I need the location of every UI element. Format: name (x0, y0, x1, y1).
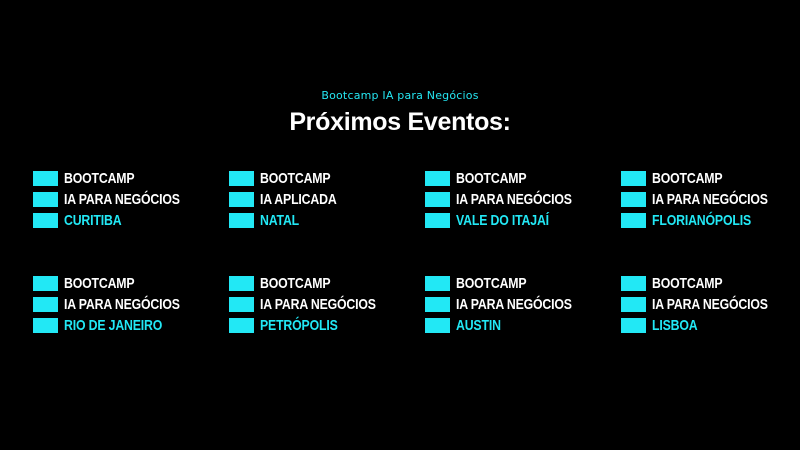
cyan-bar-icon (229, 192, 254, 207)
event-line-1-label: BOOTCAMP (456, 276, 526, 291)
cyan-bar-icon (33, 213, 58, 228)
event-line-2: IA PARA NEGÓCIOS (425, 296, 615, 313)
event-line-1: BOOTCAMP (425, 170, 615, 187)
event-city-label: FLORIANÓPOLIS (652, 213, 751, 228)
cyan-bar-icon (229, 276, 254, 291)
event-line-city: AUSTIN (425, 317, 615, 334)
event-city-label: CURITIBA (64, 213, 121, 228)
cyan-bar-icon (33, 192, 58, 207)
cyan-bar-icon (621, 276, 646, 291)
event-city-label: VALE DO ITAJAÍ (456, 213, 549, 228)
event-line-2-label: IA PARA NEGÓCIOS (260, 297, 376, 312)
cyan-bar-icon (33, 171, 58, 186)
events-grid: BOOTCAMP IA PARA NEGÓCIOS CURITIBA BOOTC… (33, 170, 773, 338)
event-card-austin[interactable]: BOOTCAMP IA PARA NEGÓCIOS AUSTIN (425, 275, 615, 338)
cyan-bar-icon (229, 171, 254, 186)
cyan-bar-icon (229, 213, 254, 228)
event-line-1: BOOTCAMP (425, 275, 615, 292)
cyan-bar-icon (621, 318, 646, 333)
cyan-bar-icon (425, 318, 450, 333)
cyan-bar-icon (425, 171, 450, 186)
cyan-bar-icon (425, 213, 450, 228)
event-city-label: PETRÓPOLIS (260, 318, 338, 333)
event-line-2-label: IA PARA NEGÓCIOS (456, 297, 572, 312)
event-line-city: CURITIBA (33, 212, 223, 229)
event-line-2-label: IA PARA NEGÓCIOS (456, 192, 572, 207)
event-line-1: BOOTCAMP (229, 275, 419, 292)
event-line-2-label: IA PARA NEGÓCIOS (652, 297, 768, 312)
cyan-bar-icon (425, 297, 450, 312)
event-line-2-label: IA PARA NEGÓCIOS (64, 297, 180, 312)
event-line-1: BOOTCAMP (33, 275, 223, 292)
event-city-label: AUSTIN (456, 318, 501, 333)
cyan-bar-icon (425, 192, 450, 207)
event-line-1: BOOTCAMP (33, 170, 223, 187)
page-title: Próximos Eventos: (0, 107, 800, 137)
event-line-city: NATAL (229, 212, 419, 229)
event-line-2: IA PARA NEGÓCIOS (621, 296, 800, 313)
event-line-1-label: BOOTCAMP (260, 276, 330, 291)
event-card-florianopolis[interactable]: BOOTCAMP IA PARA NEGÓCIOS FLORIANÓPOLIS (621, 170, 800, 275)
cyan-bar-icon (621, 213, 646, 228)
event-line-2-label: IA APLICADA (260, 192, 337, 207)
event-card-lisboa[interactable]: BOOTCAMP IA PARA NEGÓCIOS LISBOA (621, 275, 800, 338)
slide-header: Bootcamp IA para Negócios Próximos Event… (0, 88, 800, 137)
event-line-1-label: BOOTCAMP (64, 276, 134, 291)
cyan-bar-icon (33, 297, 58, 312)
event-line-2: IA PARA NEGÓCIOS (33, 296, 223, 313)
event-line-1-label: BOOTCAMP (260, 171, 330, 186)
event-line-2: IA PARA NEGÓCIOS (229, 296, 419, 313)
event-line-city: RIO DE JANEIRO (33, 317, 223, 334)
event-city-label: RIO DE JANEIRO (64, 318, 162, 333)
event-line-1-label: BOOTCAMP (64, 171, 134, 186)
event-line-2: IA PARA NEGÓCIOS (425, 191, 615, 208)
event-line-1-label: BOOTCAMP (652, 276, 722, 291)
event-line-1-label: BOOTCAMP (456, 171, 526, 186)
slide-kicker: Bootcamp IA para Negócios (0, 88, 800, 104)
presentation-slide: Bootcamp IA para Negócios Próximos Event… (0, 0, 800, 450)
cyan-bar-icon (33, 318, 58, 333)
event-line-city: VALE DO ITAJAÍ (425, 212, 615, 229)
event-card-curitiba[interactable]: BOOTCAMP IA PARA NEGÓCIOS CURITIBA (33, 170, 223, 275)
event-line-2-label: IA PARA NEGÓCIOS (652, 192, 768, 207)
event-card-rio-de-janeiro[interactable]: BOOTCAMP IA PARA NEGÓCIOS RIO DE JANEIRO (33, 275, 223, 338)
event-city-label: NATAL (260, 213, 299, 228)
event-line-city: PETRÓPOLIS (229, 317, 419, 334)
cyan-bar-icon (229, 297, 254, 312)
event-line-2-label: IA PARA NEGÓCIOS (64, 192, 180, 207)
event-card-petropolis[interactable]: BOOTCAMP IA PARA NEGÓCIOS PETRÓPOLIS (229, 275, 419, 338)
event-line-2: IA PARA NEGÓCIOS (33, 191, 223, 208)
cyan-bar-icon (33, 276, 58, 291)
event-line-2: IA PARA NEGÓCIOS (621, 191, 800, 208)
cyan-bar-icon (229, 318, 254, 333)
cyan-bar-icon (425, 276, 450, 291)
event-line-1: BOOTCAMP (621, 170, 800, 187)
event-city-label: LISBOA (652, 318, 697, 333)
cyan-bar-icon (621, 297, 646, 312)
event-line-1: BOOTCAMP (229, 170, 419, 187)
event-line-city: FLORIANÓPOLIS (621, 212, 800, 229)
event-line-2: IA APLICADA (229, 191, 419, 208)
event-line-city: LISBOA (621, 317, 800, 334)
event-line-1: BOOTCAMP (621, 275, 800, 292)
event-card-vale-do-itajai[interactable]: BOOTCAMP IA PARA NEGÓCIOS VALE DO ITAJAÍ (425, 170, 615, 275)
event-card-natal[interactable]: BOOTCAMP IA APLICADA NATAL (229, 170, 419, 275)
event-line-1-label: BOOTCAMP (652, 171, 722, 186)
cyan-bar-icon (621, 171, 646, 186)
cyan-bar-icon (621, 192, 646, 207)
